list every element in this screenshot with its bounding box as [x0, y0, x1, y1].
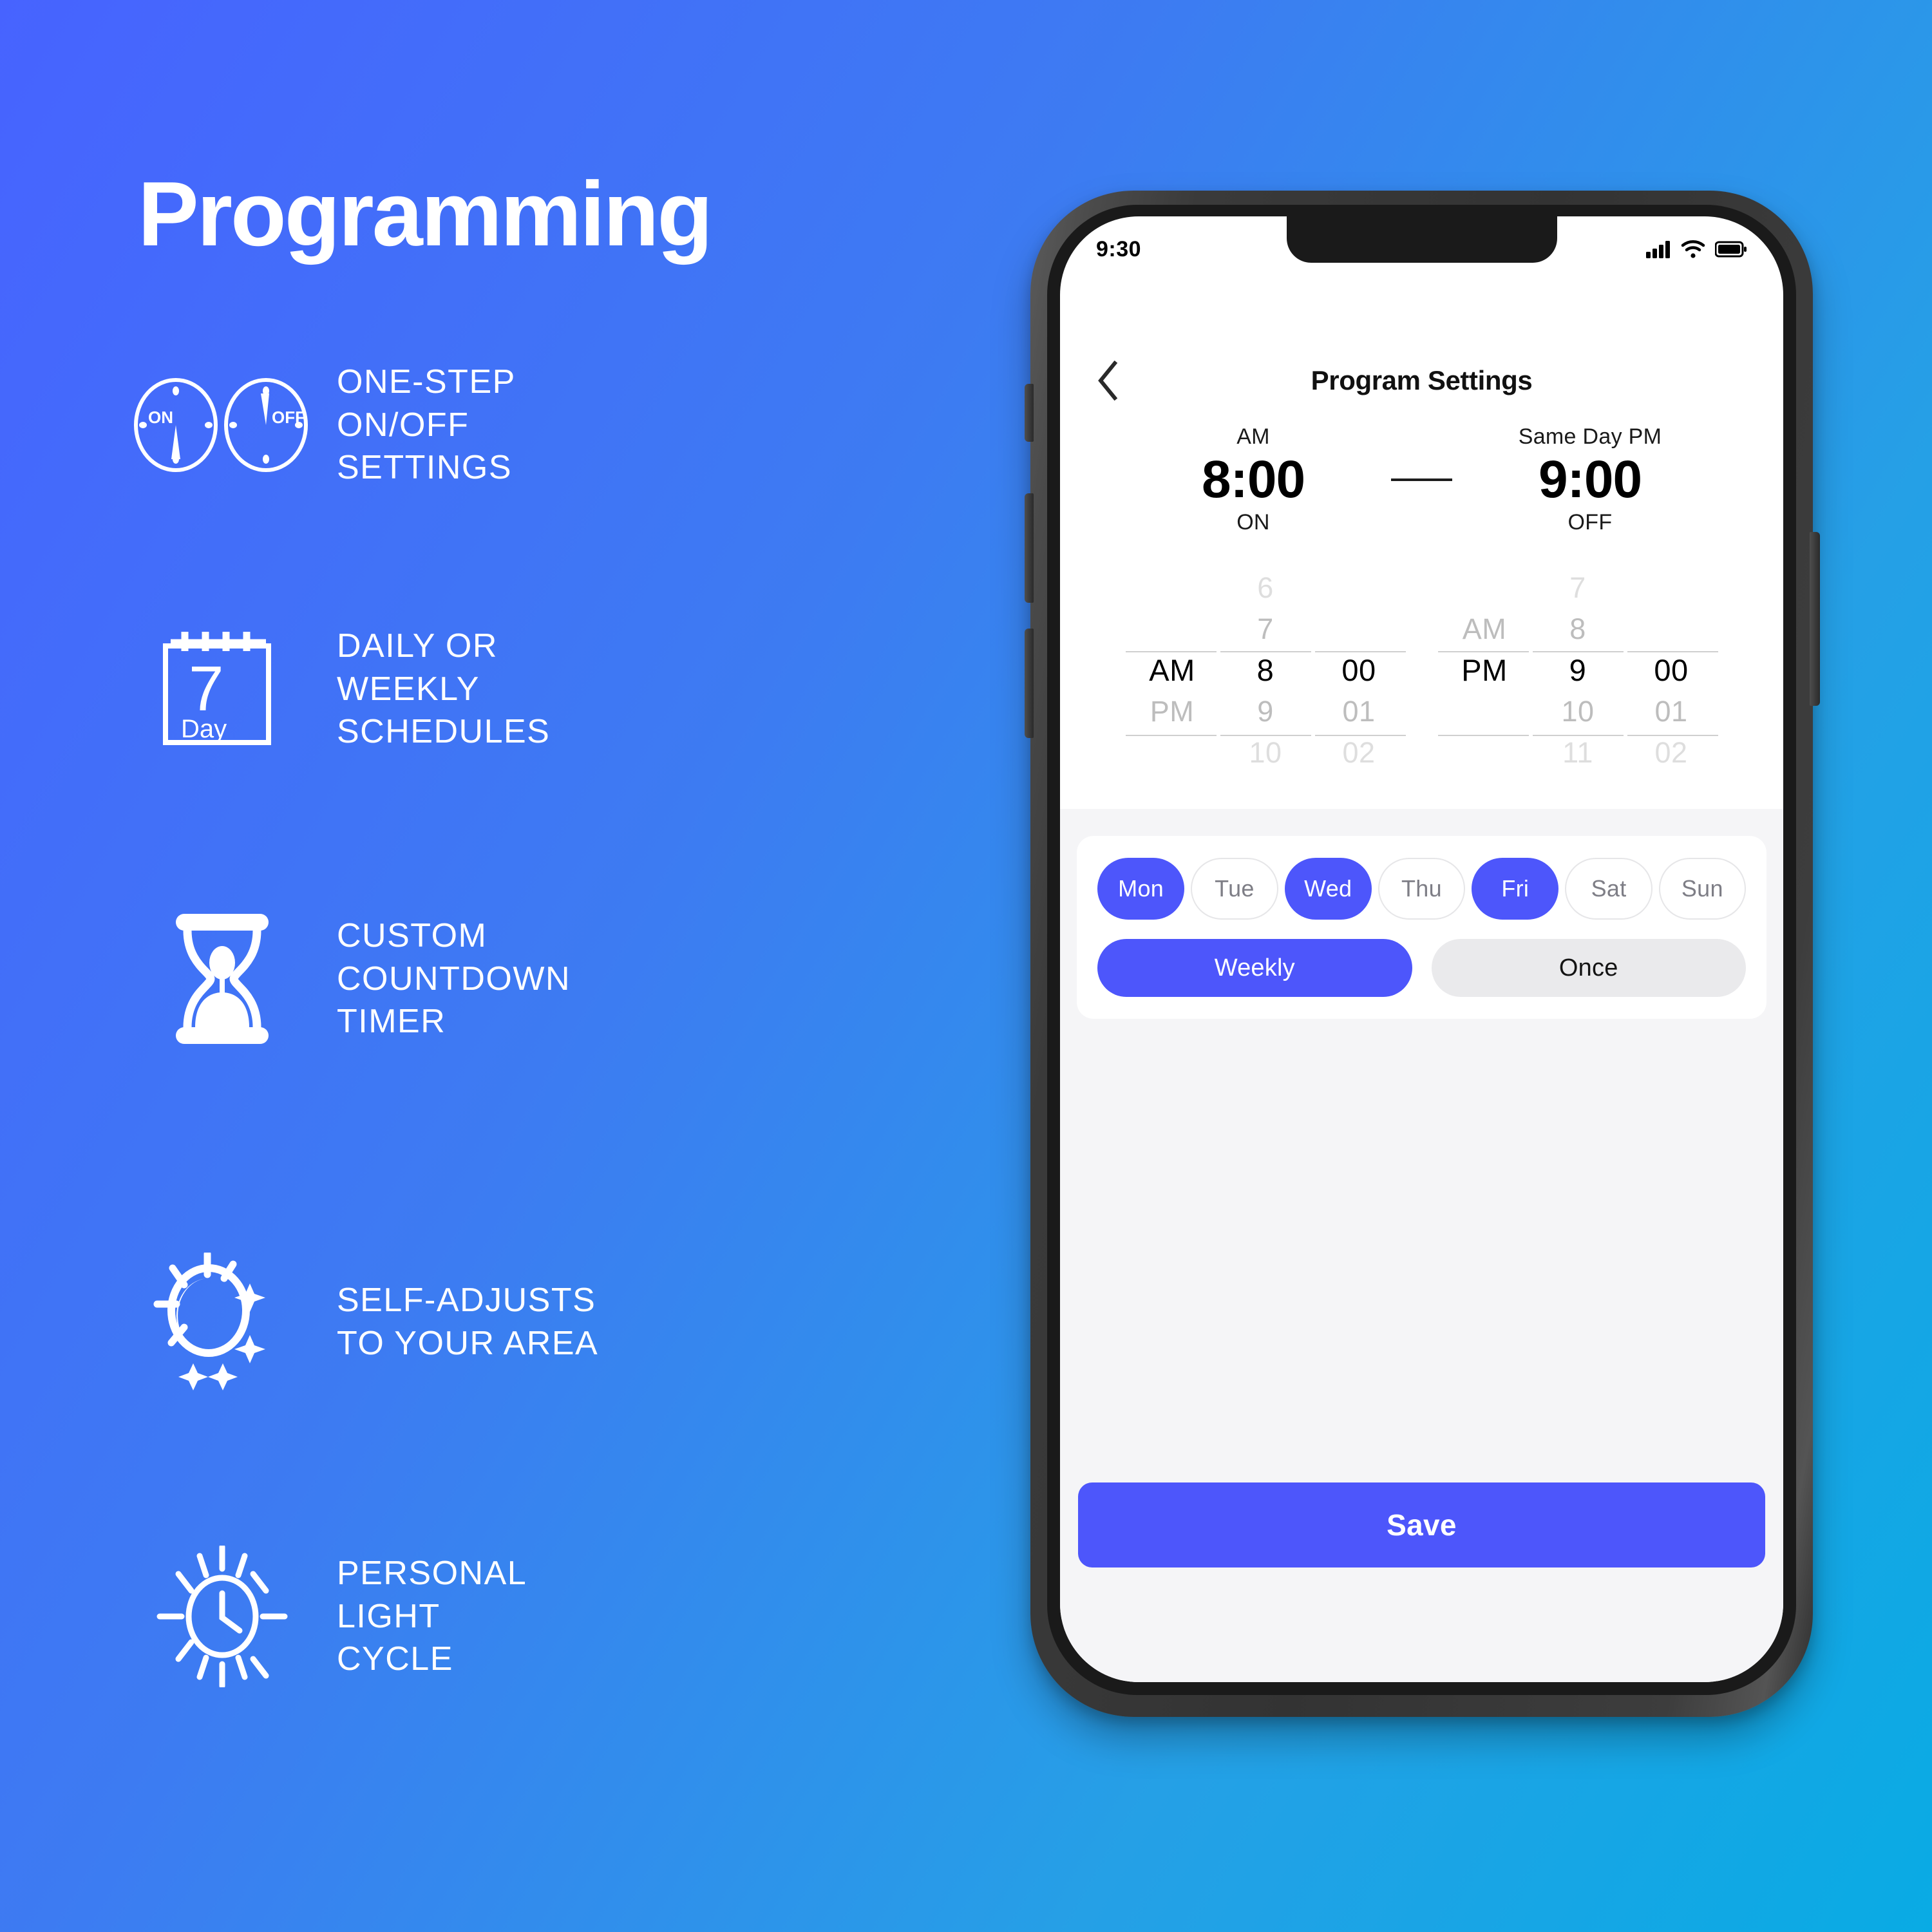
phone-screen: 9:30	[1060, 216, 1783, 1682]
picker-divider-top	[1126, 651, 1406, 652]
picker-option[interactable]: 10	[1219, 732, 1312, 773]
feature-label: DAILY OR WEEKLY SCHEDULES	[337, 625, 550, 753]
feature-label-line: LIGHT	[337, 1595, 527, 1638]
sun-moon-stars-icon	[126, 1253, 319, 1391]
clock-on-off-icon: ON OFF	[126, 377, 319, 473]
feature-label-line: COUNTDOWN	[337, 958, 571, 1001]
picker-option[interactable]: 01	[1312, 691, 1406, 732]
page-heading: Program Settings	[1060, 365, 1783, 396]
picker-divider-bottom	[1438, 735, 1718, 736]
picker-selected-option[interactable]: PM	[1438, 650, 1531, 691]
off-time-picker[interactable]: AM PM 7 8 9 10 11 00	[1438, 567, 1718, 773]
day-pill-thu[interactable]: Thu	[1378, 858, 1465, 920]
picker-option[interactable]: 01	[1625, 691, 1718, 732]
silent-switch-button[interactable]	[1025, 384, 1034, 442]
feature-label: ONE-STEP ON/OFF SETTINGS	[337, 361, 516, 489]
picker-option[interactable]: 02	[1625, 732, 1718, 773]
off-time-value: 9:00	[1455, 450, 1725, 509]
picker-selected-option[interactable]: 00	[1625, 650, 1718, 691]
on-minute-wheel[interactable]: 00 01 02	[1312, 567, 1406, 773]
off-state-label: OFF	[1455, 509, 1725, 536]
hourglass-icon	[126, 911, 319, 1046]
day-pill-wed[interactable]: Wed	[1285, 858, 1372, 920]
picker-option[interactable]: AM	[1438, 609, 1531, 650]
schedule-summary: AM 8:00 ON Same Day PM 9:00 OFF	[1060, 424, 1783, 535]
repeat-mode-weekly[interactable]: Weekly	[1097, 939, 1412, 997]
feature-label-line: CUSTOM	[337, 914, 571, 958]
day-pill-mon[interactable]: Mon	[1097, 858, 1184, 920]
picker-option[interactable]	[1438, 732, 1531, 773]
svg-text:OFF: OFF	[272, 408, 305, 427]
picker-selected-option[interactable]: 8	[1219, 650, 1312, 691]
feature-label-line: ONE-STEP	[337, 361, 516, 404]
back-button[interactable]	[1086, 358, 1131, 403]
feature-label-line: TIMER	[337, 1000, 571, 1043]
picker-option[interactable]: 02	[1312, 732, 1406, 773]
picker-divider-top	[1438, 651, 1718, 652]
picker-option[interactable]: PM	[1126, 691, 1219, 732]
picker-option[interactable]	[1126, 732, 1219, 773]
feature-item-self-adjusts: SELF-ADJUSTS TO YOUR AREA	[126, 1253, 937, 1391]
picker-option[interactable]	[1126, 609, 1219, 650]
feature-label-line: WEEKLY	[337, 668, 550, 711]
calendar-number: 7	[189, 653, 224, 724]
picker-selected-option[interactable]: 00	[1312, 650, 1406, 691]
feature-label-line: SETTINGS	[337, 446, 516, 489]
repeat-mode-group: Weekly Once	[1097, 939, 1746, 997]
save-button[interactable]: Save	[1078, 1482, 1765, 1567]
repeat-mode-once[interactable]: Once	[1432, 939, 1747, 997]
picker-option[interactable]: 7	[1531, 567, 1625, 609]
picker-option[interactable]	[1312, 609, 1406, 650]
picker-option[interactable]: 11	[1531, 732, 1625, 773]
picker-option[interactable]: 10	[1531, 691, 1625, 732]
power-button[interactable]	[1810, 532, 1820, 706]
status-bar-icons	[1645, 240, 1747, 259]
on-hour-wheel[interactable]: 6 7 8 9 10	[1219, 567, 1312, 773]
picker-divider-bottom	[1126, 735, 1406, 736]
picker-option[interactable]	[1625, 609, 1718, 650]
sun-clock-icon	[126, 1546, 319, 1687]
on-time-picker[interactable]: AM PM 6 7 8 9 10 00 0	[1126, 567, 1406, 773]
feature-label: PERSONAL LIGHT CYCLE	[337, 1552, 527, 1681]
feature-item-personal-light-cycle: PERSONAL LIGHT CYCLE	[126, 1546, 937, 1687]
feature-label-line: SELF-ADJUSTS	[337, 1279, 598, 1322]
day-selector-card: Mon Tue Wed Thu Fri Sat Sun Weekly Once	[1077, 836, 1766, 1019]
feature-label-line: SCHEDULES	[337, 710, 550, 753]
day-pill-sat[interactable]: Sat	[1565, 858, 1652, 920]
off-meridiem-wheel[interactable]: AM PM	[1438, 567, 1531, 773]
calendar-7day-icon: 7 Day	[126, 628, 319, 750]
picker-selected-option[interactable]: AM	[1126, 650, 1219, 691]
on-meridiem-wheel[interactable]: AM PM	[1126, 567, 1219, 773]
picker-option[interactable]: 8	[1531, 609, 1625, 650]
battery-icon	[1715, 240, 1747, 258]
volume-up-button[interactable]	[1025, 493, 1034, 603]
feature-label-line: TO YOUR AREA	[337, 1322, 598, 1365]
picker-selected-option[interactable]: 9	[1531, 650, 1625, 691]
feature-item-daily-weekly-schedules: 7 Day DAILY OR WEEKLY SCHEDULES	[126, 625, 937, 753]
picker-option[interactable]: 7	[1219, 609, 1312, 650]
page-title: Programming	[138, 169, 711, 260]
picker-option[interactable]	[1126, 567, 1219, 609]
left-marketing-panel: Programming ON OFF ONE	[0, 0, 966, 1932]
feature-label: SELF-ADJUSTS TO YOUR AREA	[337, 1279, 598, 1365]
on-time-summary[interactable]: AM 8:00 ON	[1118, 424, 1388, 535]
picker-option[interactable]	[1312, 567, 1406, 609]
feature-label-line: CYCLE	[337, 1638, 527, 1681]
on-state-label: ON	[1118, 509, 1388, 536]
schedule-options-section: Mon Tue Wed Thu Fri Sat Sun Weekly Once …	[1060, 809, 1783, 1682]
picker-option[interactable]	[1625, 567, 1718, 609]
cellular-signal-icon	[1645, 240, 1671, 259]
feature-item-one-step-onoff: ON OFF ONE-STEP ON/OFF SETTINGS	[126, 361, 937, 489]
day-pill-sun[interactable]: Sun	[1659, 858, 1746, 920]
off-time-summary[interactable]: Same Day PM 9:00 OFF	[1455, 424, 1725, 535]
picker-option[interactable]: 9	[1219, 691, 1312, 732]
off-hour-wheel[interactable]: 7 8 9 10 11	[1531, 567, 1625, 773]
time-pickers: AM PM 6 7 8 9 10 00 0	[1060, 567, 1783, 773]
wifi-icon	[1681, 240, 1705, 259]
on-meridiem-label: AM	[1118, 424, 1388, 450]
chevron-left-icon	[1095, 361, 1121, 401]
picker-option[interactable]: 6	[1219, 567, 1312, 609]
feature-item-custom-countdown-timer: CUSTOM COUNTDOWN TIMER	[126, 911, 937, 1046]
day-pill-fri[interactable]: Fri	[1472, 858, 1558, 920]
nav-bar: Program Settings	[1060, 352, 1783, 410]
notch	[1287, 216, 1557, 263]
feature-label-line: ON/OFF	[337, 404, 516, 447]
off-minute-wheel[interactable]: 00 01 02	[1625, 567, 1718, 773]
day-pill-group: Mon Tue Wed Thu Fri Sat Sun	[1097, 858, 1746, 920]
off-meridiem-label: Same Day PM	[1455, 424, 1725, 450]
on-time-value: 8:00	[1118, 450, 1388, 509]
phone-mockup: 9:30	[1030, 191, 1813, 1717]
summary-separator-dash	[1391, 478, 1452, 481]
feature-label-line: DAILY OR	[337, 625, 550, 668]
svg-text:ON: ON	[148, 408, 173, 427]
status-bar-time: 9:30	[1096, 237, 1141, 262]
volume-down-button[interactable]	[1025, 629, 1034, 738]
day-pill-tue[interactable]: Tue	[1191, 858, 1278, 920]
feature-label: CUSTOM COUNTDOWN TIMER	[337, 914, 571, 1043]
calendar-word: Day	[181, 715, 227, 743]
picker-option[interactable]	[1438, 691, 1531, 732]
picker-option[interactable]	[1438, 567, 1531, 609]
feature-label-line: PERSONAL	[337, 1552, 527, 1595]
